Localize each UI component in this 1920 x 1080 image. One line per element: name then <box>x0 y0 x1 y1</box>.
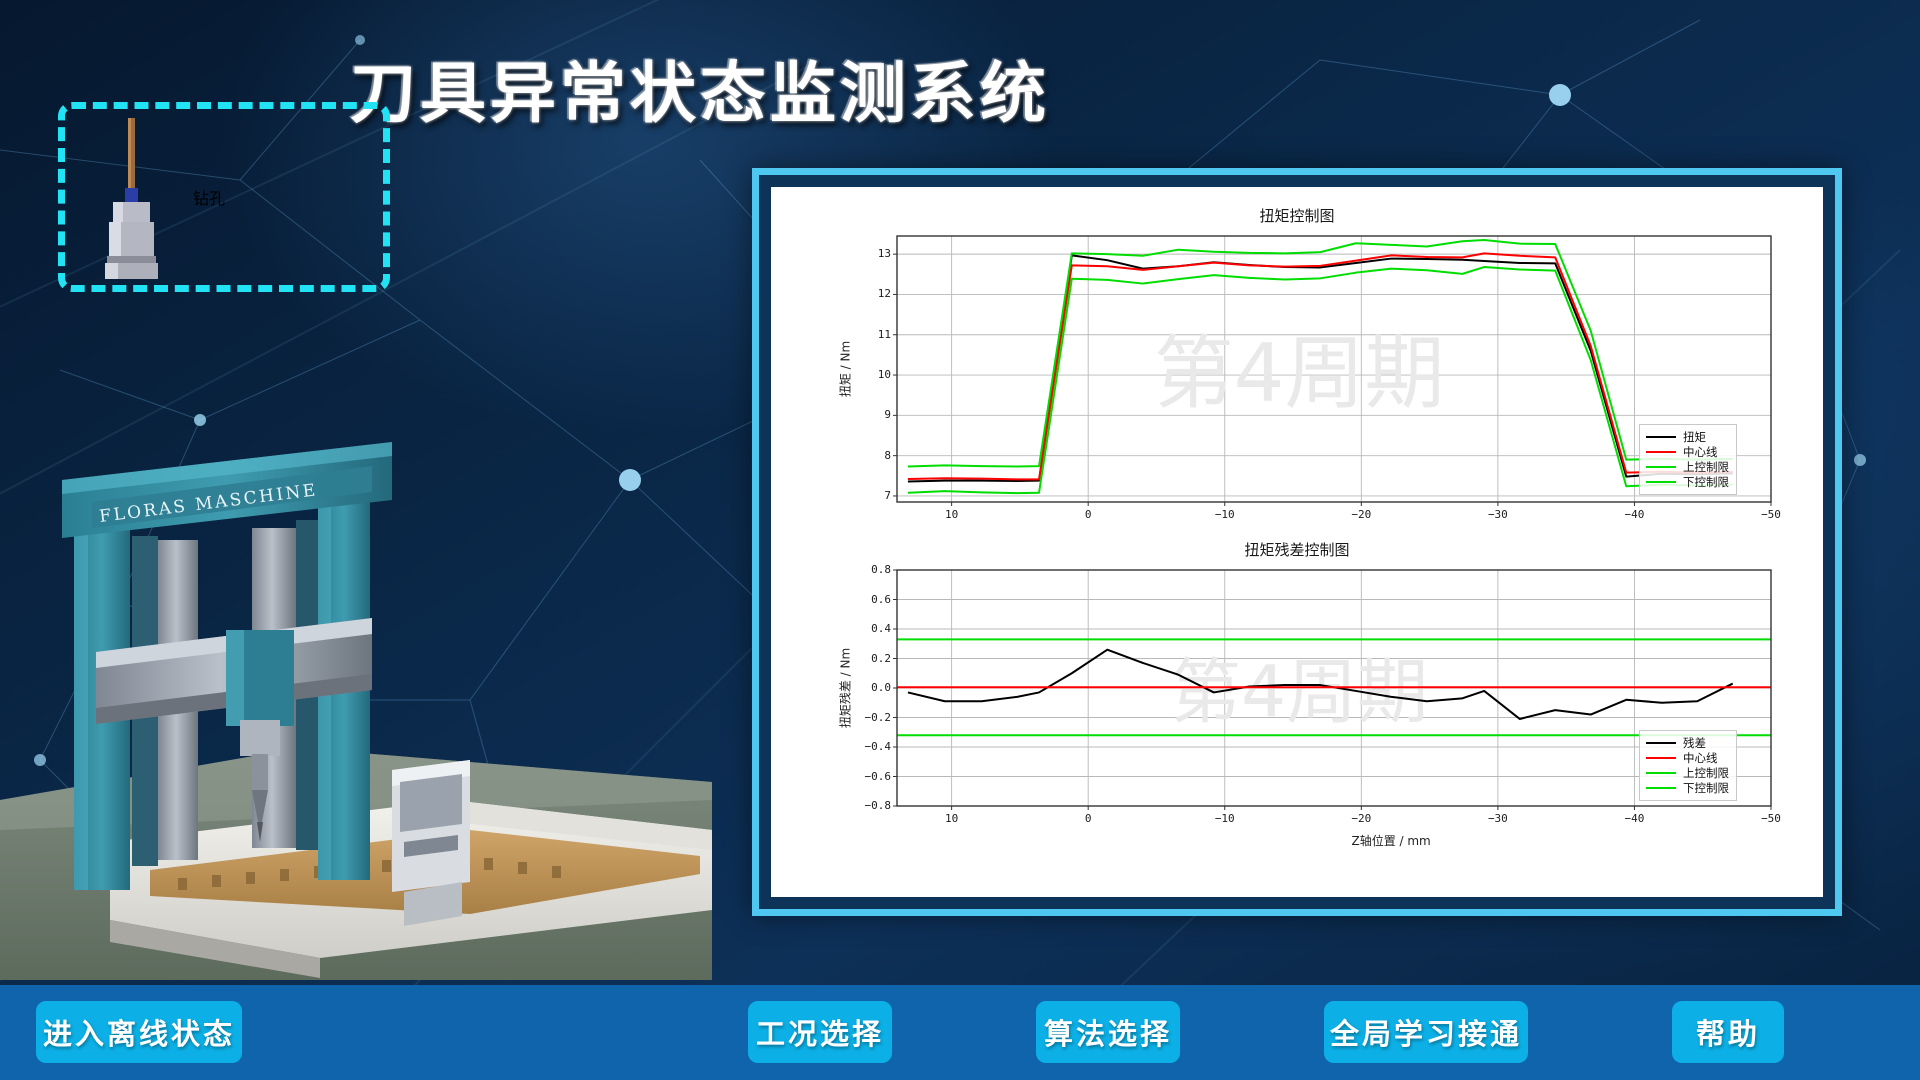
x-axis-tick-label: −30 <box>1476 508 1520 521</box>
x-axis-tick-label: −10 <box>1203 812 1247 825</box>
drill-sensor-icon <box>73 112 193 282</box>
chart-watermark: 第4周期 <box>1154 327 1445 420</box>
chart-title-torque: 扭矩控制图 <box>771 205 1823 226</box>
y-axis-tick-label: −0.8 <box>851 799 891 812</box>
y-axis-tick-label: 13 <box>851 247 891 260</box>
legend-item: 残差 <box>1646 735 1729 750</box>
legend-swatch-line <box>1646 772 1676 774</box>
chart-watermark: 第4周期 <box>1170 650 1428 733</box>
y-axis-tick-label: 11 <box>851 328 891 341</box>
legend-label: 中心线 <box>1683 750 1718 766</box>
torque-residual-control-chart: 扭矩残差控制图 第4周期−0.8−0.6−0.4−0.20.00.20.40.6… <box>771 539 1823 855</box>
x-axis-tick-label: −30 <box>1476 812 1520 825</box>
legend-swatch-line <box>1646 451 1676 453</box>
chart-legend[interactable]: 扭矩中心线上控制限下控制限 <box>1639 424 1737 495</box>
legend-swatch-line <box>1646 757 1676 759</box>
x-axis-tick-label: 10 <box>930 812 974 825</box>
legend-swatch-line <box>1646 787 1676 789</box>
legend-label: 下控制限 <box>1683 474 1729 490</box>
chart-legend[interactable]: 残差中心线上控制限下控制限 <box>1639 730 1737 801</box>
legend-label: 残差 <box>1683 735 1706 751</box>
machine-render-image: FLORAS MASCHINE <box>0 330 712 980</box>
x-axis-tick-label: −20 <box>1339 812 1383 825</box>
x-axis-tick-label: −40 <box>1612 812 1656 825</box>
torque-residual-control-chart-plot: 第4周期 <box>771 562 1823 852</box>
x-axis-tick-label: −20 <box>1339 508 1383 521</box>
footer-button-5[interactable]: 帮助 <box>1672 1001 1784 1063</box>
legend-swatch-line <box>1646 466 1676 468</box>
y-axis-tick-label: 12 <box>851 287 891 300</box>
y-axis-tick-label: 0.0 <box>851 681 891 694</box>
legend-item: 扭矩 <box>1646 429 1729 444</box>
legend-item: 下控制限 <box>1646 780 1729 795</box>
y-axis-tick-label: 0.6 <box>851 593 891 606</box>
y-axis-tick-label: 0.8 <box>851 563 891 576</box>
x-axis-tick-label: 0 <box>1066 812 1110 825</box>
x-axis-tick-label: −40 <box>1612 508 1656 521</box>
footer-button-3[interactable]: 算法选择 <box>1036 1001 1180 1063</box>
x-axis-tick-label: −50 <box>1749 508 1793 521</box>
x-axis-tick-label: −10 <box>1203 508 1247 521</box>
legend-item: 中心线 <box>1646 750 1729 765</box>
footer-button-1[interactable]: 进入离线状态 <box>36 1001 242 1063</box>
chart-panel-inner: 扭矩控制图 第4周期78910111213100−10−20−30−40−50扭… <box>771 187 1823 897</box>
y-axis-tick-label: −0.2 <box>851 711 891 724</box>
y-axis-tick-label: −0.6 <box>851 770 891 783</box>
process-mode-label: 钻孔 <box>193 185 225 209</box>
y-axis-tick-label: 8 <box>851 449 891 462</box>
y-axis-tick-label: 0.4 <box>851 622 891 635</box>
legend-label: 上控制限 <box>1683 459 1729 475</box>
x-axis-label: Z轴位置 / mm <box>1351 832 1430 849</box>
legend-swatch-line <box>1646 481 1676 483</box>
x-axis-tick-label: −50 <box>1749 812 1793 825</box>
x-axis-tick-label: 10 <box>930 508 974 521</box>
y-axis-tick-label: 9 <box>851 408 891 421</box>
y-axis-tick-label: −0.4 <box>851 740 891 753</box>
chart-title-residual: 扭矩残差控制图 <box>771 539 1823 560</box>
legend-item: 上控制限 <box>1646 459 1729 474</box>
legend-label: 中心线 <box>1683 444 1718 460</box>
footer-button-4[interactable]: 全局学习接通 <box>1324 1001 1528 1063</box>
y-axis-label: 扭矩 / Nm <box>837 309 854 429</box>
legend-label: 下控制限 <box>1683 780 1729 796</box>
legend-label: 扭矩 <box>1683 429 1706 445</box>
legend-item: 下控制限 <box>1646 474 1729 489</box>
y-axis-tick-label: 10 <box>851 368 891 381</box>
torque-control-chart: 扭矩控制图 第4周期78910111213100−10−20−30−40−50扭… <box>771 205 1823 535</box>
y-axis-tick-label: 7 <box>851 489 891 502</box>
legend-item: 上控制限 <box>1646 765 1729 780</box>
legend-swatch-line <box>1646 436 1676 438</box>
y-axis-label: 扭矩残差 / Nm <box>837 628 854 748</box>
y-axis-tick-label: 0.2 <box>851 652 891 665</box>
footer-toolbar: 进入离线状态工况选择算法选择全局学习接通帮助 <box>0 985 1920 1080</box>
footer-button-2[interactable]: 工况选择 <box>748 1001 892 1063</box>
chart-panel: 扭矩控制图 第4周期78910111213100−10−20−30−40−50扭… <box>752 168 1842 916</box>
legend-label: 上控制限 <box>1683 765 1729 781</box>
legend-swatch-line <box>1646 742 1676 744</box>
x-axis-tick-label: 0 <box>1066 508 1110 521</box>
legend-item: 中心线 <box>1646 444 1729 459</box>
process-mode-badge[interactable]: 钻孔 <box>58 102 390 292</box>
